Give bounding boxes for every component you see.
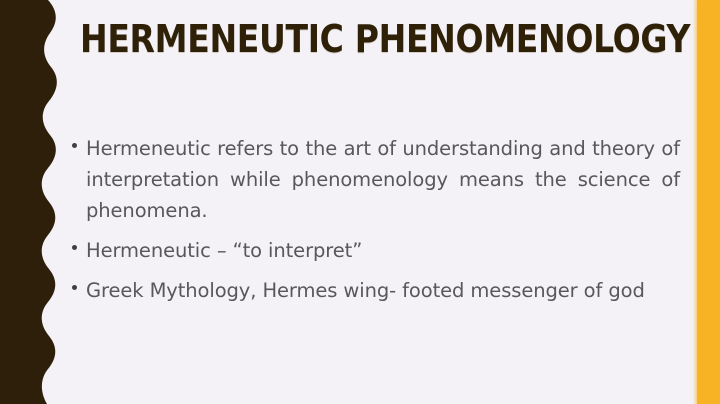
slide-canvas: HERMENEUTIC PHENOMENOLOGY Hermeneutic re… xyxy=(0,0,720,404)
slide-title: HERMENEUTIC PHENOMENOLOGY xyxy=(80,16,602,62)
bullet-dot-icon xyxy=(72,235,86,250)
amber-accent-stripe xyxy=(697,0,720,404)
bullet-dot-icon xyxy=(72,275,86,290)
wavy-brown-band-decoration xyxy=(0,0,60,404)
bullet-text: Hermeneutic refers to the art of underst… xyxy=(86,133,680,226)
bullet-text: Greek Mythology, Hermes wing- footed mes… xyxy=(86,275,680,306)
list-item: Hermeneutic – “to interpret” xyxy=(72,235,680,266)
bullet-text: Hermeneutic – “to interpret” xyxy=(86,235,680,266)
bullet-list: Hermeneutic refers to the art of underst… xyxy=(72,133,680,315)
list-item: Hermeneutic refers to the art of underst… xyxy=(72,133,680,226)
list-item: Greek Mythology, Hermes wing- footed mes… xyxy=(72,275,680,306)
bullet-dot-icon xyxy=(72,133,86,148)
